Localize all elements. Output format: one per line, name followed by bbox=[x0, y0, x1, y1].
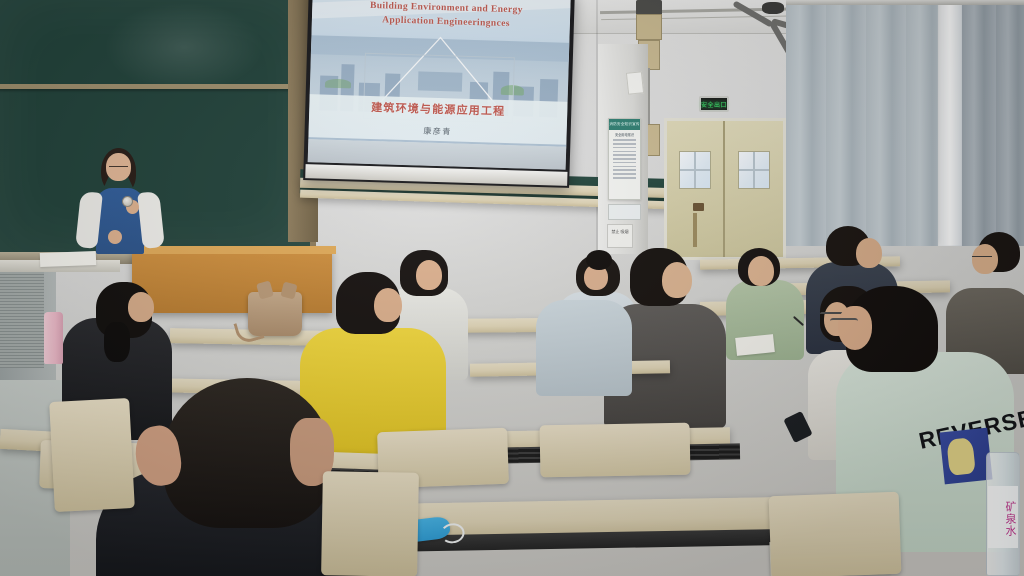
projected-slide: Building Environment and Energy Applicat… bbox=[308, 0, 571, 170]
exit-sign-label: 安全出口 bbox=[701, 100, 727, 109]
projection-screen[interactable]: Building Environment and Energy Applicat… bbox=[303, 0, 575, 188]
curtain-rail bbox=[786, 0, 1024, 5]
door-handle[interactable] bbox=[693, 203, 704, 211]
notice-subtitle: 安全用电常识 bbox=[612, 132, 637, 137]
wall-vent-grille bbox=[0, 272, 44, 368]
wall-notice-secondary bbox=[608, 204, 641, 220]
shirt-graphic-figure bbox=[946, 437, 976, 476]
chalkboard-glare bbox=[104, 2, 264, 92]
safety-notice-board: 消防安全知识宣传 安全用电常识 bbox=[608, 118, 641, 200]
glasses-icon bbox=[830, 318, 858, 326]
window bbox=[786, 0, 1024, 246]
ceiling-fan-icon bbox=[762, 2, 784, 14]
seat-back bbox=[49, 398, 135, 512]
window-curtain-left[interactable] bbox=[786, 0, 938, 246]
seat-back bbox=[321, 471, 419, 576]
door-leaf-left[interactable] bbox=[667, 121, 725, 257]
classroom-photo: Building Environment and Energy Applicat… bbox=[0, 0, 1024, 576]
shirt-graphic bbox=[939, 428, 992, 485]
water-bottle-label: 矿泉水 bbox=[988, 486, 1018, 548]
pink-bottle[interactable] bbox=[44, 312, 63, 364]
window-curtain-right[interactable] bbox=[962, 0, 1024, 246]
hanging-cable bbox=[648, 68, 650, 126]
glasses-icon bbox=[972, 256, 992, 260]
wall-paper-notice bbox=[626, 71, 644, 95]
seat-back bbox=[769, 492, 902, 576]
exit-sign: 安全出口 bbox=[699, 96, 729, 112]
ceiling-speaker-icon bbox=[636, 14, 662, 40]
seat-back bbox=[540, 423, 691, 478]
glasses-icon bbox=[109, 166, 128, 170]
door-window bbox=[679, 151, 710, 189]
lecturer-hand-left bbox=[108, 230, 122, 244]
door-edge-strip bbox=[693, 213, 697, 247]
window-light-gap bbox=[938, 0, 962, 246]
door-leaf-right[interactable] bbox=[725, 121, 783, 257]
notice-header: 消防安全知识宣传 bbox=[609, 119, 640, 130]
classroom-door[interactable] bbox=[664, 118, 786, 260]
microphone-icon bbox=[122, 196, 133, 207]
podium-top bbox=[128, 246, 336, 254]
podium bbox=[132, 249, 332, 313]
slide-tree bbox=[325, 79, 351, 89]
door-window bbox=[738, 151, 770, 189]
no-smoking-sign: 禁止 吸烟 bbox=[607, 224, 633, 248]
papers-on-ledge bbox=[40, 251, 96, 267]
